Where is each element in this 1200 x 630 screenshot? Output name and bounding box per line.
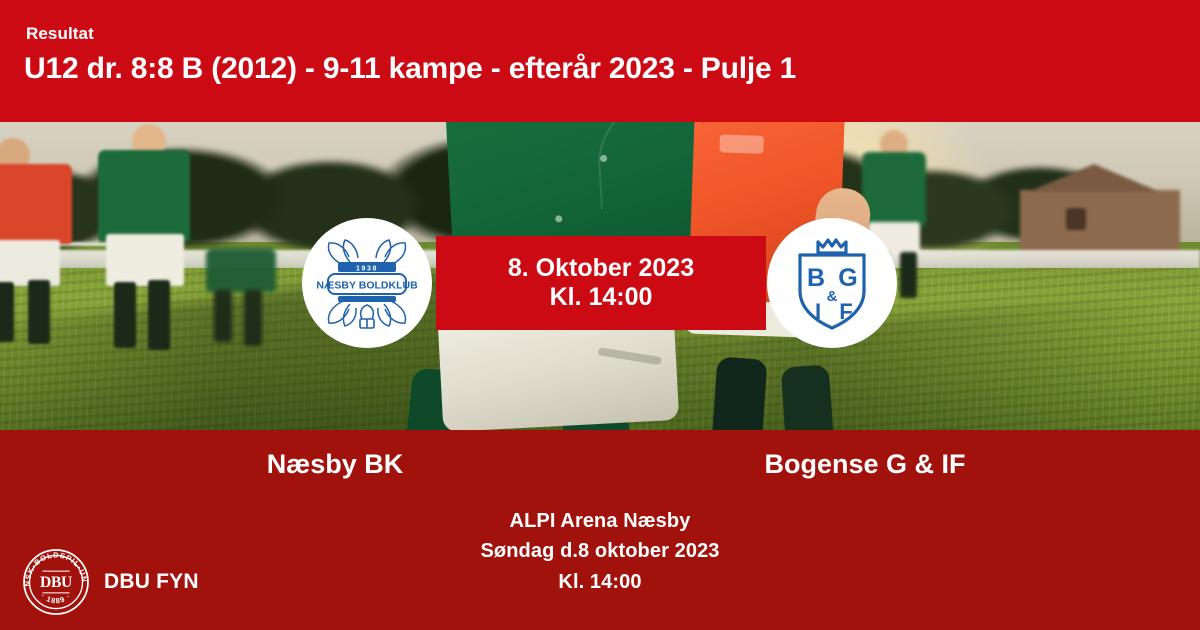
match-time: Kl. 14:00 [550, 283, 653, 312]
away-team-name: Bogense G & IF [530, 449, 1200, 480]
header-kicker: Resultat [26, 24, 94, 44]
svg-text:&: & [827, 288, 838, 305]
match-date: 8. Oktober 2023 [508, 254, 694, 283]
away-club-crest: B G & I F [767, 218, 897, 348]
venue-name: ALPI Arena Næsby [0, 506, 1200, 536]
dbu-seal-logo-icon: DANSK·BOLDSPIL·UNION · 1889 · DBU [22, 548, 90, 616]
svg-text:DBU: DBU [40, 574, 72, 591]
svg-text:B: B [807, 264, 825, 292]
header-banner: Resultat U12 dr. 8:8 B (2012) - 9-11 kam… [0, 0, 1200, 122]
svg-text:1938: 1938 [356, 265, 378, 272]
naesby-boldklub-crest-icon: 1938 NÆSBY BOLDKLUB [313, 229, 421, 337]
dbu-fyn-logo: DANSK·BOLDSPIL·UNION · 1889 · DBU DBU FY… [22, 548, 199, 616]
svg-text:I: I [815, 299, 821, 324]
svg-text:· 1889 ·: · 1889 · [39, 591, 73, 605]
dbu-fyn-label: DBU FYN [104, 570, 199, 594]
svg-text:F: F [839, 299, 852, 324]
match-datetime-band: 8. Oktober 2023 Kl. 14:00 [436, 236, 766, 330]
page-title: U12 dr. 8:8 B (2012) - 9-11 kampe - efte… [24, 52, 796, 86]
player-orange-bib [0, 140, 72, 310]
match-result-poster: Resultat U12 dr. 8:8 B (2012) - 9-11 kam… [0, 0, 1200, 630]
svg-text:NÆSBY BOLDKLUB: NÆSBY BOLDKLUB [316, 280, 418, 292]
player-green-behind [200, 248, 290, 358]
bogense-gif-crest-icon: B G & I F [782, 229, 882, 337]
svg-text:G: G [838, 264, 857, 292]
home-club-crest: 1938 NÆSBY BOLDKLUB [302, 218, 432, 348]
player-green-midfield [90, 124, 200, 324]
